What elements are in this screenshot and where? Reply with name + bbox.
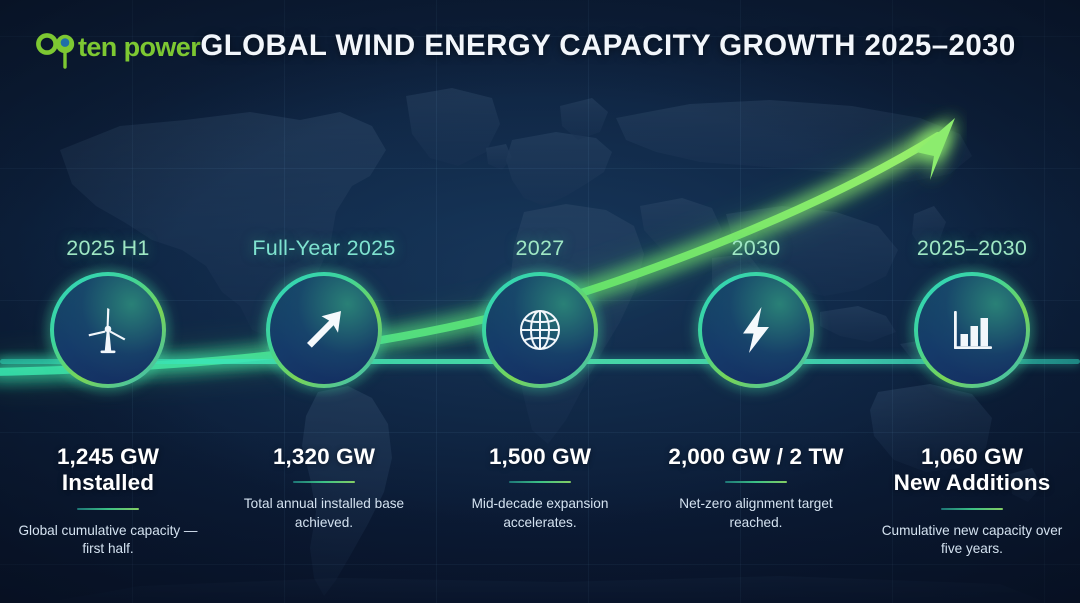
timeline-nodes: 2025 H1 [0, 236, 1080, 388]
milestone-year-1: 2025 H1 [66, 236, 149, 261]
stat-block-5: 1,060 GW New Additions Cumulative new ca… [864, 444, 1080, 559]
page-title: GLOBAL WIND ENERGY CAPACITY GROWTH 2025–… [170, 29, 1046, 63]
stat-block-3: 1,500 GW Mid-decade expansion accelerate… [432, 444, 648, 559]
stat-block-2: 1,320 GW Total annual installed base ach… [216, 444, 432, 559]
milestone-year-3: 2027 [515, 236, 564, 261]
milestone-circle-1[interactable] [50, 272, 166, 388]
wind-turbine-icon [78, 300, 138, 360]
timeline: 2025 H1 [0, 236, 1080, 388]
stat-divider [293, 481, 355, 483]
milestone-circle-4[interactable] [698, 272, 814, 388]
stat-value-line1: 1,245 GW [57, 444, 159, 469]
stat-description-5: Cumulative new capacity over five years. [880, 522, 1065, 559]
stat-block-1: 1,245 GW Installed Global cumulative cap… [0, 444, 216, 559]
stat-value-5: 1,060 GW New Additions [894, 444, 1051, 497]
circle-inner [486, 276, 594, 384]
stat-value-2: 1,320 GW [273, 444, 375, 470]
circle-inner [54, 276, 162, 384]
stat-value-line1: 1,060 GW [921, 444, 1023, 469]
header-bar: ten power GLOBAL WIND ENERGY CAPACITY GR… [0, 0, 1080, 92]
bar-chart-icon [943, 301, 1001, 359]
stat-value-line2: New Additions [894, 470, 1051, 495]
stat-value-4: 2,000 GW / 2 TW [668, 444, 843, 470]
infographic-canvas: ten power GLOBAL WIND ENERGY CAPACITY GR… [0, 0, 1080, 603]
arrow-up-right-icon [294, 300, 354, 360]
stat-description-3: Mid-decade expansion accelerates. [448, 495, 633, 532]
lightning-bolt-icon [727, 301, 785, 359]
stat-description-2: Total annual installed base achieved. [232, 495, 417, 532]
circle-ring [50, 272, 166, 388]
milestone-node-5[interactable]: 2025–2030 [864, 236, 1080, 388]
milestone-node-2[interactable]: Full-Year 2025 [216, 236, 432, 388]
milestone-year-5: 2025–2030 [917, 236, 1027, 261]
stat-block-4: 2,000 GW / 2 TW Net-zero alignment targe… [648, 444, 864, 559]
milestone-circle-2[interactable] [266, 272, 382, 388]
milestone-node-4[interactable]: 2030 [648, 236, 864, 388]
circle-inner [270, 276, 378, 384]
stat-divider [725, 481, 787, 483]
stat-value-3: 1,500 GW [489, 444, 591, 470]
stat-value-1: 1,245 GW Installed [57, 444, 159, 497]
globe-icon [511, 301, 569, 359]
circle-ring [914, 272, 1030, 388]
milestone-year-4: 2030 [731, 236, 780, 261]
stat-divider [77, 508, 139, 510]
milestone-circle-3[interactable] [482, 272, 598, 388]
stat-divider [509, 481, 571, 483]
stat-description-4: Net-zero alignment target reached. [664, 495, 849, 532]
stat-divider [941, 508, 1003, 510]
milestone-node-1[interactable]: 2025 H1 [0, 236, 216, 388]
milestone-node-3[interactable]: 2027 [432, 236, 648, 388]
circle-ring [698, 272, 814, 388]
milestone-year-2: Full-Year 2025 [252, 236, 395, 261]
stat-value-line2: Installed [62, 470, 154, 495]
stat-description-1: Global cumulative capacity — first half. [16, 522, 201, 559]
stats-row: 1,245 GW Installed Global cumulative cap… [0, 444, 1080, 559]
circle-inner [702, 276, 810, 384]
ooten-logo-mark [34, 24, 80, 70]
milestone-circle-5[interactable] [914, 272, 1030, 388]
circle-inner [918, 276, 1026, 384]
circle-ring [266, 272, 382, 388]
circle-ring [482, 272, 598, 388]
